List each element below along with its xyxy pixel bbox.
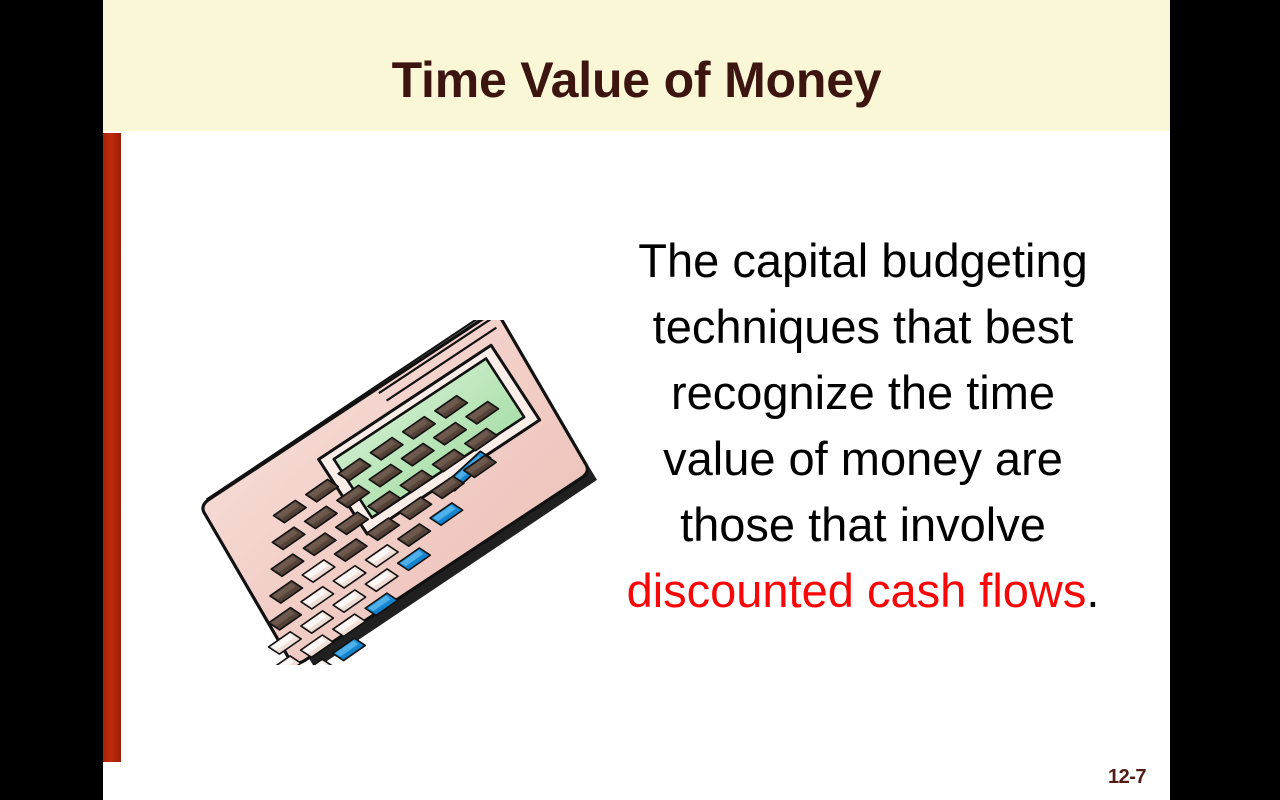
body-line-1: The capital budgeting [573, 228, 1153, 294]
body-line-2: techniques that best [573, 294, 1153, 360]
accent-bar [103, 133, 121, 762]
page-title: Time Value of Money [103, 55, 1170, 105]
page-number: 12-7 [1108, 766, 1146, 789]
body-line-6: discounted cash flows. [573, 558, 1153, 624]
body-line-4: value of money are [573, 426, 1153, 492]
slide-canvas: Time Value of Money [103, 0, 1170, 800]
slide-root: Time Value of Money [0, 0, 1280, 800]
highlight-phrase: discounted cash flows [627, 564, 1087, 617]
body-line-3: recognize the time [573, 360, 1153, 426]
body-paragraph: The capital budgeting techniques that be… [573, 228, 1153, 624]
title-banner: Time Value of Money [103, 0, 1170, 131]
body-line-5: those that involve [573, 492, 1153, 558]
highlight-suffix: . [1086, 564, 1099, 617]
calculator-illustration [123, 320, 633, 665]
